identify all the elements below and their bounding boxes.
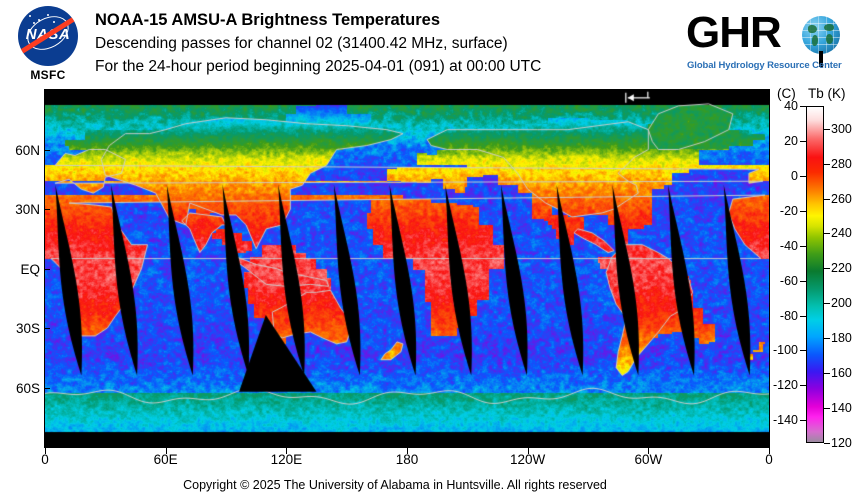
x-axis-tick [648,448,649,454]
x-axis-label: 0 [41,452,49,467]
ghrc-tagline: Global Hydrology Resource Center [687,60,847,71]
colorbar-kelvin-tick [824,199,830,200]
colorbar-kelvin-label: 180 [831,332,852,344]
y-axis-label: 60N [15,144,40,157]
x-axis-label: 180 [396,452,419,467]
colorbar-celsius-tick [800,176,806,177]
colorbar-kelvin-tick [824,338,830,339]
y-axis-label: 30N [15,203,40,216]
colorbar-celsius-label: 20 [784,135,798,147]
x-axis-tick [166,448,167,454]
x-axis-tick [769,448,770,454]
y-axis: 60N30NEQ30S60S [0,89,40,448]
y-axis-tick [44,209,50,210]
page-period: For the 24-hour period beginning 2025-04… [95,55,675,78]
colorbar-celsius-tick [800,420,806,421]
title-block: NOAA-15 AMSU-A Brightness Temperatures D… [95,9,675,78]
colorbar-kelvin-tick [824,443,830,444]
y-axis-label: EQ [20,263,40,276]
colorbar-kelvin-label: 200 [831,297,852,309]
colorbar-kelvin-label: 260 [831,193,852,205]
colorbar-kelvin-label: 120 [831,437,852,449]
colorbar-kelvin-tick [824,164,830,165]
x-axis-tick [407,448,408,454]
ghrc-logo: GHR Global Hydrology Resource Center [686,8,848,80]
colorbar-celsius-tick [800,385,806,386]
y-axis-tick [44,150,50,151]
colorbar-celsius-label: -40 [780,240,798,252]
colorbar-kelvin-tick [824,129,830,130]
colorbar-legend: (C) Tb (K) 40200-20-40-60-80-100-120-140… [776,86,854,461]
colorbar-kelvin-label: 220 [831,262,852,274]
page-subtitle: Descending passes for channel 02 (31400.… [95,32,675,55]
y-axis-tick [44,388,50,389]
nasa-center-label: MSFC [12,68,84,82]
x-axis-label: 120E [271,452,303,467]
colorbar-celsius-label: 0 [791,170,798,182]
copyright-notice: Copyright © 2025 The University of Alaba… [0,478,790,492]
colorbar-celsius-label: -20 [780,205,798,217]
colorbar-celsius-tick [800,350,806,351]
colorbar-kelvin-tick [824,268,830,269]
y-axis-tick [44,269,50,270]
colorbar-kelvin-label: 240 [831,227,852,239]
colorbar-celsius-label: -100 [773,344,798,356]
y-axis-tick [44,328,50,329]
colorbar-celsius-tick [800,246,806,247]
colorbar-kelvin-tick [824,373,830,374]
colorbar-kelvin-tick [824,233,830,234]
y-axis-label: 60S [16,382,40,395]
colorbar-celsius-tick [800,141,806,142]
x-axis-label: 60W [634,452,662,467]
x-axis: 060E120E180120W60W0 [0,450,854,472]
x-axis-label: 120W [510,452,545,467]
page-title: NOAA-15 AMSU-A Brightness Temperatures [95,9,675,32]
x-axis-tick [528,448,529,454]
colorbar-celsius-label: -80 [780,310,798,322]
nasa-meatball-icon: NASA [18,6,78,66]
colorbar-kelvin-label: 140 [831,402,852,414]
x-axis-tick [286,448,287,454]
x-axis-tick [45,448,46,454]
colorbar-kelvin-header: Tb (K) [808,86,846,101]
colorbar-celsius-tick [800,211,806,212]
map-plot-area[interactable] [44,89,770,448]
colorbar-kelvin-label: 160 [831,367,852,379]
x-axis-label: 60E [154,452,178,467]
colorbar-gradient [806,106,824,443]
colorbar-celsius-tick [800,281,806,282]
header: NASA MSFC NOAA-15 AMSU-A Brightness Temp… [0,0,854,88]
brightness-temperature-heatmap[interactable] [45,90,769,447]
colorbar-kelvin-tick [824,303,830,304]
colorbar-kelvin-tick [824,408,830,409]
colorbar-kelvin-label: 280 [831,158,852,170]
ghrc-wordmark: GHR [686,8,781,58]
ghrc-globe-icon [802,16,840,54]
colorbar-celsius-tick [800,106,806,107]
colorbar-celsius-label: -120 [773,379,798,391]
colorbar-celsius-tick [800,316,806,317]
nasa-logo: NASA MSFC [12,4,84,84]
y-axis-label: 30S [16,322,40,335]
x-axis-label: 0 [765,452,773,467]
colorbar-celsius-label: -140 [773,414,798,426]
colorbar-celsius-label: 40 [784,100,798,112]
colorbar-celsius-label: -60 [780,275,798,287]
colorbar-kelvin-label: 300 [831,123,852,135]
